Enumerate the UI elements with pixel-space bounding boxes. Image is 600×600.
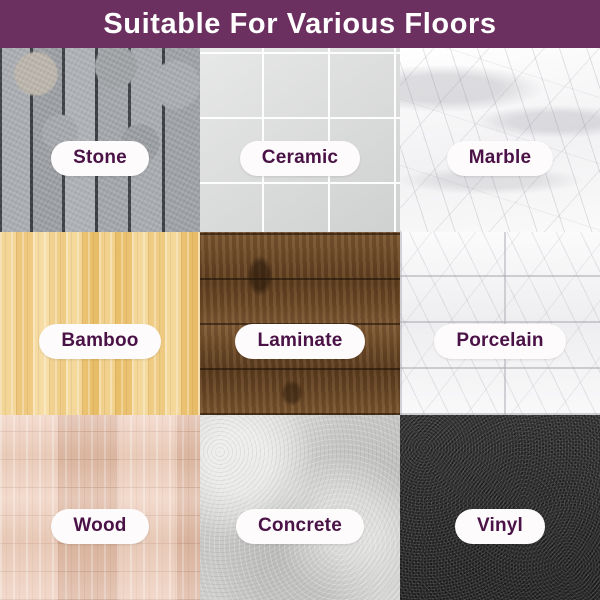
- bamboo-label: Bamboo: [61, 330, 138, 351]
- floor-tile-porcelain[interactable]: Porcelain: [400, 232, 600, 415]
- stone-label-pill: Stone: [51, 141, 149, 176]
- floor-tile-concrete[interactable]: Concrete: [200, 415, 400, 600]
- vinyl-label-pill: Vinyl: [455, 509, 545, 544]
- floor-tile-ceramic[interactable]: Ceramic: [200, 48, 400, 232]
- stone-texture: [0, 48, 200, 232]
- ceramic-label-pill: Ceramic: [240, 141, 360, 176]
- ceramic-label: Ceramic: [262, 147, 338, 168]
- wood-label: Wood: [73, 515, 126, 536]
- page-title: Suitable For Various Floors: [103, 0, 496, 48]
- marble-label: Marble: [469, 147, 531, 168]
- floor-tile-wood[interactable]: Wood: [0, 415, 200, 600]
- stone-label: Stone: [73, 147, 127, 168]
- laminate-label: Laminate: [257, 330, 342, 351]
- concrete-label: Concrete: [258, 515, 342, 536]
- porcelain-label-pill: Porcelain: [434, 324, 565, 359]
- floor-tile-vinyl[interactable]: Vinyl: [400, 415, 600, 600]
- floor-tile-stone[interactable]: Stone: [0, 48, 200, 232]
- concrete-label-pill: Concrete: [236, 509, 364, 544]
- header-banner: Suitable For Various Floors: [0, 0, 600, 48]
- porcelain-label: Porcelain: [456, 330, 543, 351]
- floor-tile-bamboo[interactable]: Bamboo: [0, 232, 200, 415]
- floor-type-grid: Stone Ceramic Marble Bamboo Laminate: [0, 48, 600, 600]
- floor-tile-laminate[interactable]: Laminate: [200, 232, 400, 415]
- floor-types-infographic: Suitable For Various Floors Stone Cerami…: [0, 0, 600, 600]
- vinyl-texture: [400, 415, 600, 600]
- ceramic-texture: [200, 48, 400, 232]
- wood-label-pill: Wood: [51, 509, 148, 544]
- marble-texture: [400, 48, 600, 232]
- vinyl-label: Vinyl: [477, 515, 523, 536]
- laminate-label-pill: Laminate: [235, 324, 364, 359]
- floor-tile-marble[interactable]: Marble: [400, 48, 600, 232]
- concrete-texture: [200, 415, 400, 600]
- bamboo-label-pill: Bamboo: [39, 324, 160, 359]
- marble-label-pill: Marble: [447, 141, 553, 176]
- wood-texture: [0, 415, 200, 600]
